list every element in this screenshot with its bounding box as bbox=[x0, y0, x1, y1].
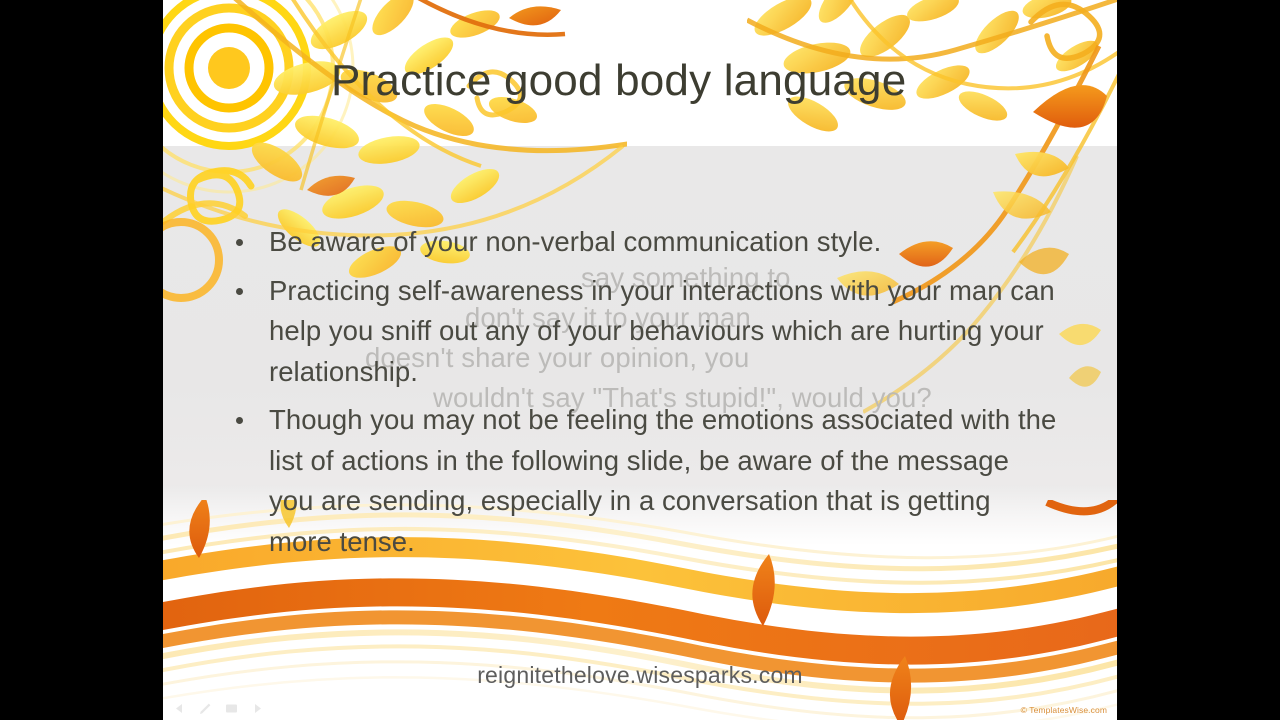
presentation-mode-controls[interactable] bbox=[170, 701, 267, 716]
presentation-slide[interactable]: Practice good body language say somethin… bbox=[163, 0, 1117, 720]
bullet-text: Practicing self-awareness in your intera… bbox=[269, 275, 1055, 387]
slide-menu-icon[interactable] bbox=[222, 701, 241, 716]
bullet-text: Though you may not be feeling the emotio… bbox=[269, 404, 1056, 557]
previous-slide-icon[interactable] bbox=[170, 701, 189, 716]
slide-bullet-list: Be aware of your non-verbal communicatio… bbox=[229, 222, 1059, 570]
bullet-dot-icon bbox=[236, 288, 243, 295]
pen-annotation-icon[interactable] bbox=[196, 701, 215, 716]
letterbox-bar-right bbox=[1117, 0, 1280, 720]
bullet-dot-icon bbox=[236, 239, 243, 246]
bullet-text: Be aware of your non-verbal communicatio… bbox=[269, 226, 881, 257]
slide-title: Practice good body language bbox=[331, 56, 1091, 105]
bullet-dot-icon bbox=[236, 417, 243, 424]
next-slide-icon[interactable] bbox=[248, 701, 267, 716]
bullet-item: Be aware of your non-verbal communicatio… bbox=[229, 222, 1059, 263]
bullet-item: Though you may not be feeling the emotio… bbox=[229, 400, 1059, 562]
footer-url: reignitethelove.wisesparks.com bbox=[163, 662, 1117, 689]
bullet-item: Practicing self-awareness in your intera… bbox=[229, 271, 1059, 393]
letterbox-bar-left bbox=[0, 0, 163, 720]
template-watermark: © TemplatesWise.com bbox=[1021, 705, 1107, 715]
screenshot-stage: Practice good body language say somethin… bbox=[0, 0, 1280, 720]
